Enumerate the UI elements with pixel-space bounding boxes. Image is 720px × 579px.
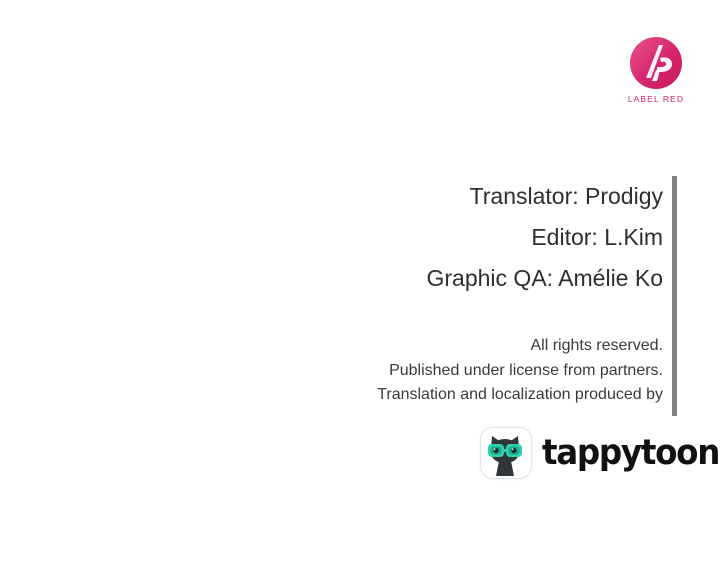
credit-line-editor: Editor: L.Kim (0, 217, 663, 258)
vertical-divider (672, 176, 677, 416)
credit-line-translator: Translator: Prodigy (0, 176, 663, 217)
publisher-logo: LABEL RED (620, 36, 692, 104)
rights-notice: All rights reserved. Published under lic… (0, 334, 673, 408)
tappytoon-brand-lockup: tappytoon (480, 427, 720, 479)
tappytoon-cat-mascot-icon (480, 427, 532, 479)
tappytoon-wordmark: tappytoon (542, 436, 719, 471)
label-red-circle-mark-icon (629, 36, 683, 90)
credits-list: Translator: Prodigy Editor: L.Kim Graphi… (0, 176, 673, 299)
credits-page: LABEL RED Translator: Prodigy Editor: L.… (0, 0, 720, 579)
rights-line-all-rights: All rights reserved. (0, 334, 663, 359)
publisher-name: LABEL RED (628, 94, 684, 104)
rights-line-localization: Translation and localization produced by (0, 383, 663, 408)
credit-line-graphic-qa: Graphic QA: Amélie Ko (0, 258, 663, 299)
rights-line-license: Published under license from partners. (0, 359, 663, 384)
